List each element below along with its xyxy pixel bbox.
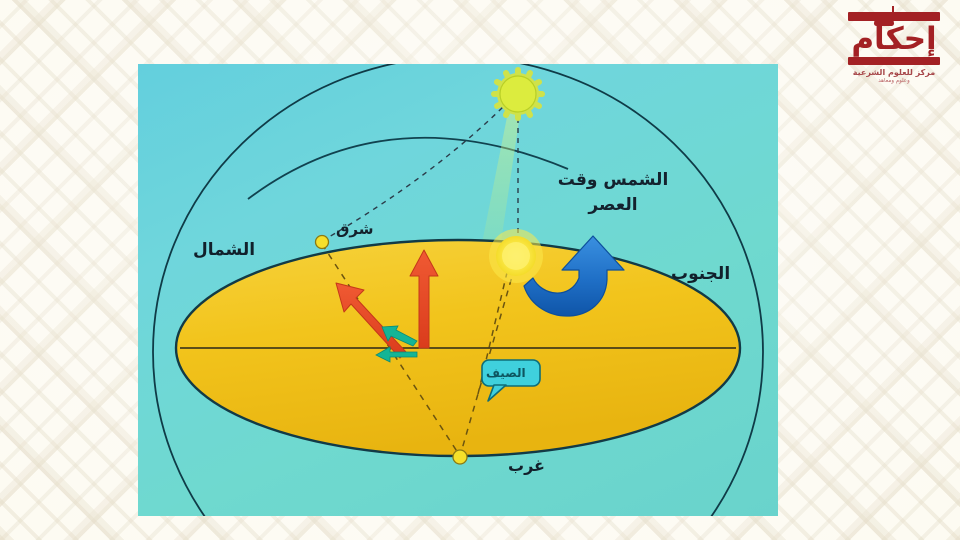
logo-bar-top bbox=[848, 12, 940, 21]
west-point-marker bbox=[453, 450, 467, 464]
sun-path-arc bbox=[248, 138, 568, 199]
logo-subtitle-secondary: وعلوم ومعاهد bbox=[835, 78, 953, 84]
logo-subtitle: مركز للعلوم الشرعية bbox=[835, 68, 953, 77]
horizon-plane bbox=[176, 240, 740, 456]
east-point-marker bbox=[316, 236, 329, 249]
asr-sun-diagram: الشمس وقت العصر الشمال الجنوب شرق غرب ال… bbox=[138, 64, 778, 516]
logo-wordmark: إحكام bbox=[835, 22, 953, 56]
sun-asr-marker bbox=[489, 229, 543, 283]
logo-bar-bottom bbox=[848, 57, 940, 65]
ihkam-logo: إحكام مركز للعلوم الشرعية وعلوم ومعاهد bbox=[835, 8, 953, 100]
sun-zenith-marker bbox=[494, 70, 542, 118]
